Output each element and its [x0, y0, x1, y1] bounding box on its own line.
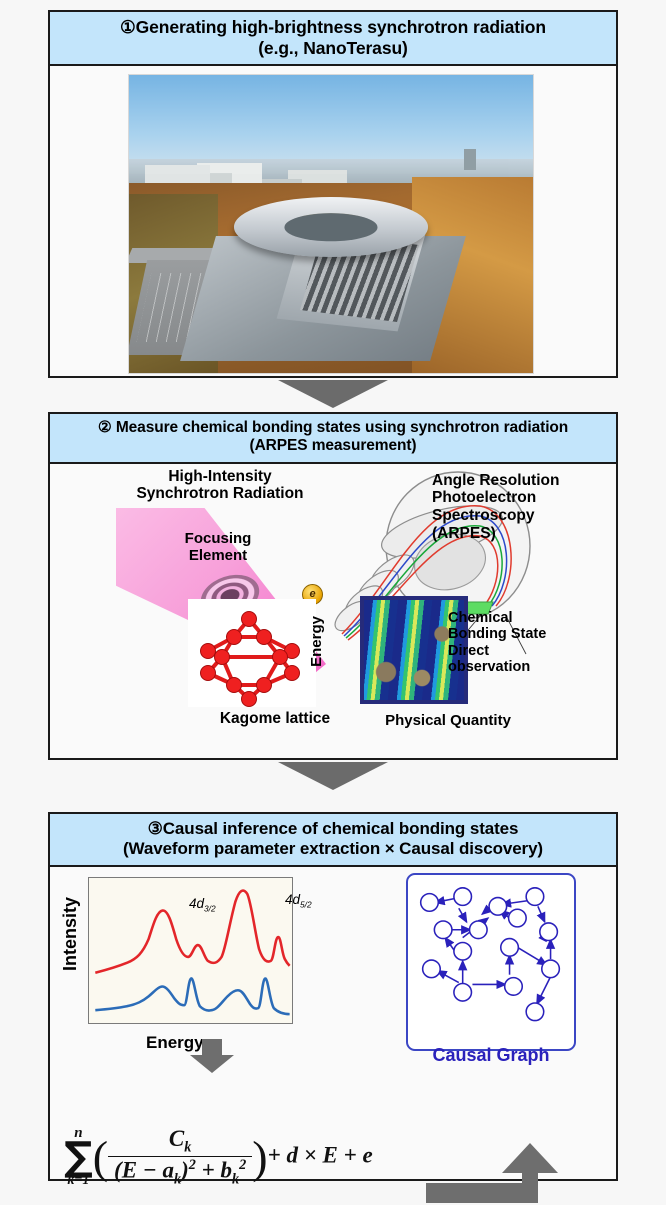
- photo-ring-inner-shadow: [284, 214, 377, 241]
- photoemission-spectrum-chart: 4d3/2 4d5/2: [88, 877, 293, 1024]
- lorentzian-fraction: Ck(E − ak)2 + bk2: [108, 1126, 252, 1189]
- label-chemical-bonding-state-direct-observation: Chemical Bonding State Direct observatio…: [448, 610, 608, 676]
- arpes-schematic: e: [50, 464, 616, 754]
- nanoterasu-facility-photo: [128, 74, 534, 374]
- causal-graph-card: [406, 873, 576, 1051]
- panel-arpes-measurement: ② Measure chemical bonding states using …: [48, 412, 618, 760]
- arpes-label-line2: Photoelectron: [432, 489, 612, 507]
- panel-2-title-line2: (ARPES measurement): [54, 437, 612, 455]
- arpes-label-line4: (ARPES): [432, 525, 612, 543]
- feedback-arrow-to-causal-graph: [420, 1143, 605, 1205]
- focusing-label-line1: Focusing: [158, 530, 278, 547]
- beam-label-line2: Synchrotron Radiation: [105, 485, 335, 503]
- label-kagome-lattice: Kagome lattice: [180, 710, 370, 728]
- label-physical-quantity-axis: Physical Quantity: [348, 712, 548, 729]
- causal-graph-svg: [408, 875, 574, 1049]
- chem-label-line4: observation: [448, 659, 608, 676]
- panel-1-header: ①Generating high-brightness synchrotron …: [50, 12, 616, 66]
- panel-3-title-line1: ③Causal inference of chemical bonding st…: [54, 819, 612, 839]
- beam-label-line1: High-Intensity: [105, 468, 335, 486]
- panel-causal-inference: ③Causal inference of chemical bonding st…: [48, 812, 618, 1181]
- photo-tower: [464, 149, 476, 170]
- panel-3-body: Intensity 4d3/2 4d5/2 Energy: [50, 867, 616, 1173]
- label-focusing-element: Focusing Element: [158, 530, 278, 564]
- label-energy-axis-spectrum: Energy: [146, 1033, 204, 1053]
- label-intensity-axis: Intensity: [60, 897, 81, 971]
- kagome-lattice-figure: [188, 599, 316, 707]
- panel-3-header: ③Causal inference of chemical bonding st…: [50, 814, 616, 867]
- panel-generating-synchrotron-radiation: ①Generating high-brightness synchrotron …: [48, 10, 618, 378]
- label-high-intensity-synchrotron-radiation: High-Intensity Synchrotron Radiation: [105, 468, 335, 503]
- panel-2-title-line1: ② Measure chemical bonding states using …: [54, 419, 612, 437]
- flow-arrow-panel1-to-panel2: [278, 380, 388, 408]
- chem-label-line3: Direct: [448, 643, 608, 660]
- panel-3-title-line2: (Waveform parameter extraction × Causal …: [54, 839, 612, 859]
- fraction-numerator: Ck: [108, 1126, 252, 1157]
- chem-label-line2: Bonding State: [448, 626, 608, 643]
- panel-1-body: [50, 66, 616, 368]
- arpes-label-line1: Angle Resolution: [432, 472, 612, 490]
- label-angle-resolution-photoelectron-spectroscopy: Angle Resolution Photoelectron Spectrosc…: [432, 472, 612, 543]
- summation-symbol: n ∑ k=1: [64, 1125, 93, 1189]
- kagome-lattice-svg: [188, 599, 316, 707]
- panel-2-body: e: [50, 464, 616, 750]
- panel-1-title-line1: ①Generating high-brightness synchrotron …: [54, 17, 612, 38]
- focusing-label-line2: Element: [158, 547, 278, 564]
- photo-storage-ring-building: [234, 197, 428, 257]
- chem-label-line1: Chemical: [448, 610, 608, 627]
- label-causal-graph: Causal Graph: [406, 1045, 576, 1066]
- peak-label-4d52: 4d5/2: [285, 892, 312, 910]
- close-paren: ): [252, 1132, 267, 1183]
- formula-tail: + d × E + e: [268, 1142, 373, 1167]
- fraction-denominator: (E − ak)2 + bk2: [108, 1156, 252, 1188]
- sigma-glyph: ∑: [64, 1142, 93, 1173]
- panel-1-title-line2: (e.g., NanoTerasu): [54, 38, 612, 59]
- sum-lower-limit: k=1: [64, 1173, 93, 1189]
- peak-label-4d32: 4d3/2: [189, 896, 216, 914]
- open-paren: (: [93, 1132, 108, 1183]
- arpes-label-line3: Spectroscopy: [432, 507, 612, 525]
- panel-2-header: ② Measure chemical bonding states using …: [50, 414, 616, 464]
- label-energy-axis: Energy: [308, 616, 325, 667]
- spectrum-curve-blue: [95, 979, 289, 1015]
- extraction-arrow-head: [190, 1055, 234, 1073]
- flow-arrow-panel2-to-panel3: [278, 762, 388, 790]
- lorentzian-fit-formula: n ∑ k=1 (Ck(E − ak)2 + bk2)+ d × E + e: [64, 1125, 394, 1189]
